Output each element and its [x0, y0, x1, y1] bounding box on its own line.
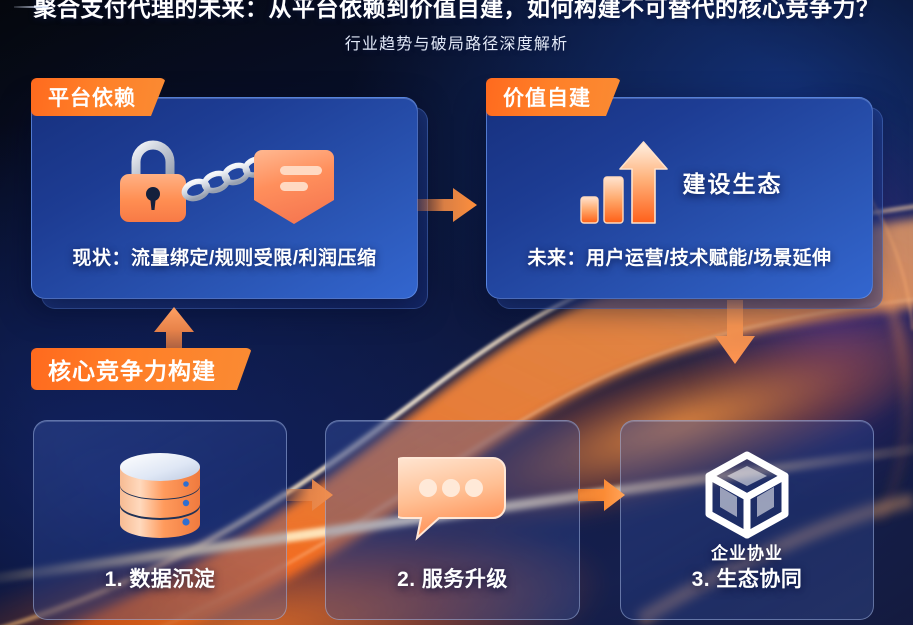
growth-icon-and-label-slot: 建设生态: [487, 136, 872, 228]
step-sub-label-enterprise-collab: 企业协业: [621, 539, 873, 564]
arrow-step2-to-step3: [578, 478, 626, 517]
step-caption-data-accumulation: 1. 数据沉淀: [34, 563, 286, 593]
title-rule-decoration: [14, 6, 48, 8]
card-step-ecosystem-synergy[interactable]: 企业协业 3. 生态协同: [620, 420, 874, 620]
growth-chart-arrow-icon: [577, 139, 669, 225]
speech-bubble-icon: [398, 448, 508, 542]
card-surface: 现状：流量绑定/规则受限/利润压缩: [31, 97, 418, 299]
card-caption-future-state: 未来：用户运营/技术赋能/场景延伸: [487, 243, 872, 270]
database-icon: [112, 448, 208, 542]
page-title: 聚合支付代理的未来：从平台依赖到价值自建，如何构建不可替代的核心竞争力？: [34, 0, 880, 23]
cube-box-icon-slot: [621, 447, 873, 543]
step-caption-service-upgrade: 2. 服务升级: [326, 563, 579, 593]
card-step-data-accumulation[interactable]: 1. 数据沉淀: [33, 420, 287, 620]
database-icon-slot: [34, 447, 286, 543]
arrow-step1-to-step2: [286, 478, 334, 517]
card-caption-current-state: 现状：流量绑定/规则受限/利润压缩: [32, 243, 417, 270]
infographic-canvas: 聚合支付代理的未来：从平台依赖到价值自建，如何构建不可替代的核心竞争力？ 行业趋…: [0, 0, 913, 625]
arrow-platform-to-value: [417, 186, 479, 229]
lock-chain-document-icon-slot: [32, 136, 417, 228]
card-surface: 建设生态 未来：用户运营/技术赋能/场景延伸: [486, 97, 873, 299]
lock-chain-document-icon: [110, 136, 340, 228]
cube-box-icon: [701, 449, 793, 541]
arrow-value-to-core: [713, 300, 757, 371]
step-caption-ecosystem-synergy: 3. 生态协同: [621, 563, 873, 593]
card-value-self-build[interactable]: 建设生态 未来：用户运营/技术赋能/场景延伸: [486, 97, 871, 297]
page-subtitle: 行业趋势与破局路径深度解析: [0, 30, 913, 54]
arrow-right-icon: [578, 478, 626, 512]
arrow-right-icon: [417, 186, 479, 224]
badge-core-competency[interactable]: 核心竞争力构建: [31, 348, 252, 390]
badge-platform-dependence[interactable]: 平台依赖: [31, 78, 166, 116]
title-row: 聚合支付代理的未来：从平台依赖到价值自建，如何构建不可替代的核心竞争力？: [0, 0, 913, 23]
header: 聚合支付代理的未来：从平台依赖到价值自建，如何构建不可替代的核心竞争力？ 行业趋…: [0, 0, 913, 54]
arrow-right-icon: [286, 478, 334, 512]
growth-icon-label: 建设生态: [683, 165, 783, 199]
arrow-down-icon: [713, 300, 757, 366]
card-step-service-upgrade[interactable]: 2. 服务升级: [325, 420, 580, 620]
card-platform-dependence[interactable]: 现状：流量绑定/规则受限/利润压缩: [31, 97, 416, 297]
speech-bubble-icon-slot: [326, 447, 579, 543]
badge-value-self-build[interactable]: 价值自建: [486, 78, 621, 116]
